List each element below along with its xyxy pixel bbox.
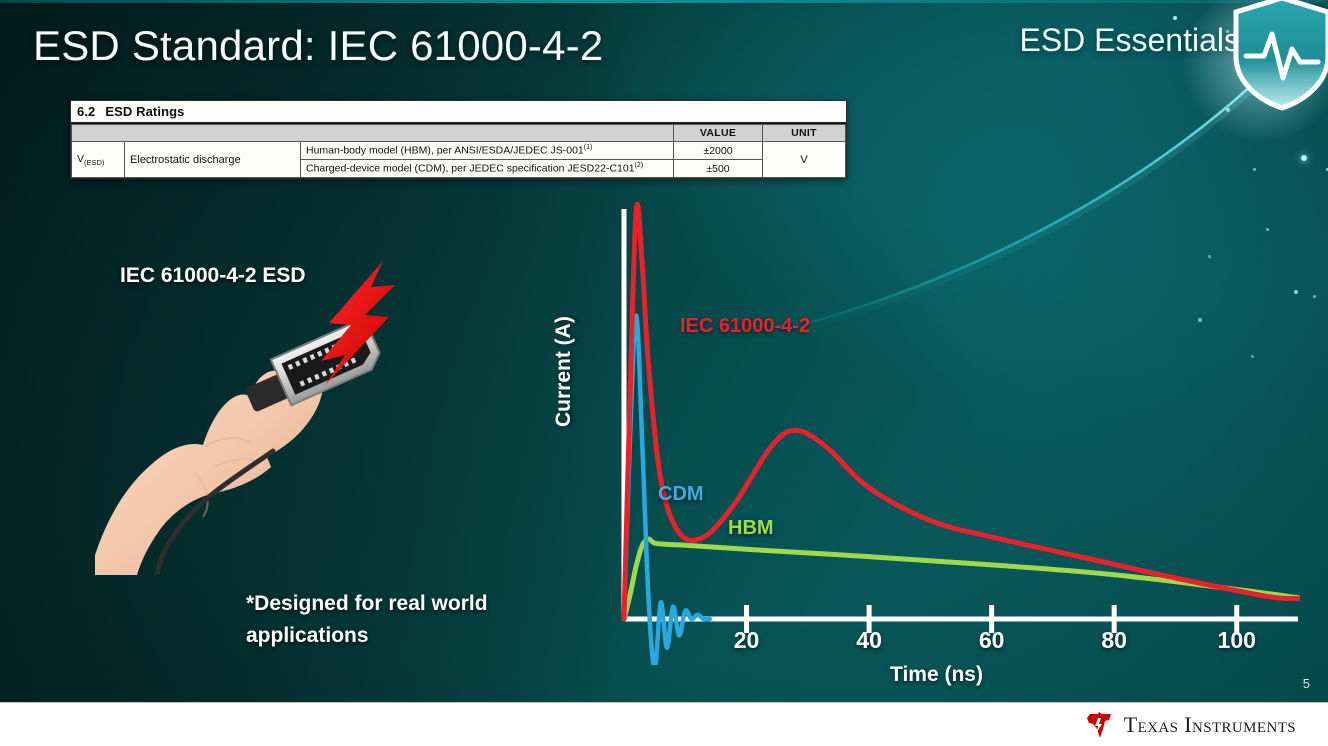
curve-label-iec: IEC 61000-4-2 (680, 315, 810, 338)
cell-description-hbm: Human-body model (HBM), per ANSI/ESDA/JE… (301, 142, 674, 160)
cell-value-hbm: ±2000 (674, 142, 763, 160)
symbol-subscript: (ESD) (84, 158, 104, 167)
chart-curve-iec-61000-4-2 (624, 204, 1298, 619)
cdm-footnote: (2) (635, 162, 644, 169)
chart-x-tick-label: 80 (1101, 627, 1127, 654)
chart-curve-hbm (624, 539, 1298, 619)
curve-label-hbm: HBM (728, 517, 774, 540)
symbol-base: V (77, 153, 84, 165)
top-accent-line (0, 0, 1328, 3)
esd-waveform-chart: Current (A) Time (ns) IEC 61000-4-2 CDM … (560, 195, 1300, 665)
chart-x-tick-label: 60 (979, 627, 1005, 654)
chart-x-tick-label: 100 (1218, 627, 1256, 654)
texas-instruments-mark-icon (1085, 712, 1115, 738)
table-header-unit: UNIT (763, 125, 846, 142)
ti-wordmark: Texas Instruments (1124, 712, 1296, 738)
design-note: *Designed for real world applications (246, 588, 546, 651)
table-header-blank (72, 125, 674, 142)
chart-plot-area (560, 195, 1300, 665)
curve-label-cdm: CDM (658, 483, 704, 506)
design-note-line1: *Designed for real world (246, 588, 546, 620)
table-header-row: VALUE UNIT (72, 125, 846, 142)
table-section-heading: 6.2ESD Ratings (71, 101, 846, 124)
table-section-number: 6.2 (77, 104, 95, 119)
esd-ratings-table: 6.2ESD Ratings VALUE UNIT V(ESD) Electro… (70, 100, 847, 179)
chart-curves (624, 204, 1298, 665)
ti-logo: Texas Instruments (1085, 712, 1296, 738)
slide-number: 5 (1303, 676, 1310, 691)
page-title: ESD Standard: IEC 61000-4-2 (33, 22, 603, 70)
table-section-title: ESD Ratings (105, 104, 184, 119)
cell-unit: V (763, 142, 846, 178)
shield-pulse-icon (1230, 0, 1328, 112)
hbm-footnote: (1) (584, 144, 593, 151)
slide-canvas: ESD Standard: IEC 61000-4-2 ESD Essentia… (0, 0, 1328, 746)
cell-symbol: V(ESD) (72, 142, 125, 178)
design-note-line2: applications (246, 620, 546, 652)
cell-description-cdm: Charged-device model (CDM), per JEDEC sp… (301, 160, 674, 178)
cdm-description-text: Charged-device model (CDM), per JEDEC sp… (306, 163, 635, 175)
cell-value-cdm: ±500 (674, 160, 763, 178)
chart-x-axis-label: Time (ns) (890, 663, 983, 687)
chart-x-tick-label: 40 (856, 627, 882, 654)
chart-y-axis-label: Current (A) (552, 316, 576, 427)
chart-x-tick-label: 20 (734, 627, 760, 654)
brand-label: ESD Essentials (1019, 22, 1240, 59)
table-header-value: VALUE (674, 125, 763, 142)
cell-parameter: Electrostatic discharge (125, 142, 301, 178)
hbm-description-text: Human-body model (HBM), per ANSI/ESDA/JE… (306, 145, 584, 157)
chart-axes (624, 209, 1298, 619)
table-row: V(ESD) Electrostatic discharge Human-bod… (72, 142, 846, 160)
hand-connector-illustration (95, 255, 435, 575)
